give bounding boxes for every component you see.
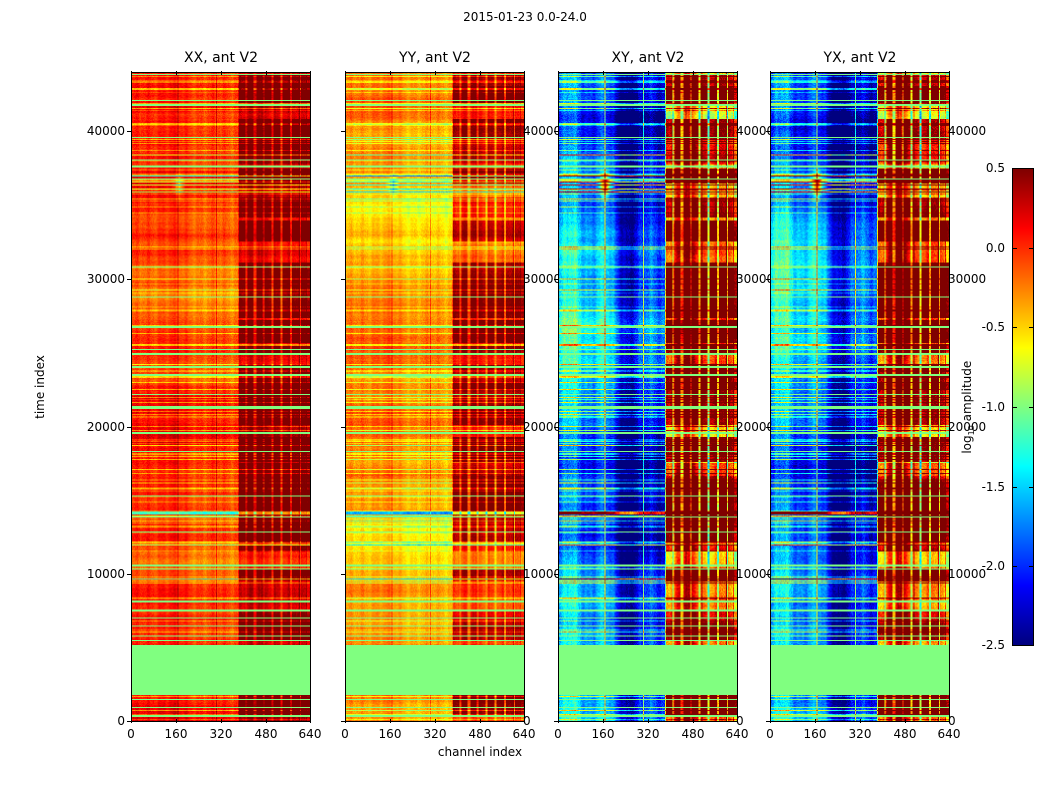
y-tick-mark xyxy=(127,721,132,722)
colorbar-tick-mark xyxy=(1029,168,1034,169)
y-tick-label-overlap: 10000 xyxy=(948,567,986,581)
x-tick-label: 480 xyxy=(894,727,917,741)
x-tick-mark-top xyxy=(176,71,177,75)
x-tick-mark-top xyxy=(693,71,694,75)
heatmap-image-xy xyxy=(559,73,737,721)
y-tick-label-overlap: 0 xyxy=(948,714,956,728)
x-tick-mark-top xyxy=(860,71,861,75)
y-tick-label-overlap: 0 xyxy=(523,714,531,728)
panel-axes-yx xyxy=(770,72,950,722)
panel-title-yx: YX, ant V2 xyxy=(770,50,950,66)
x-tick-mark-top xyxy=(737,71,738,75)
x-axis-label: channel index xyxy=(380,745,580,759)
x-tick-label: 640 xyxy=(513,727,536,741)
x-tick-mark xyxy=(176,719,177,723)
y-tick-mark xyxy=(554,131,559,132)
x-tick-mark-top xyxy=(390,71,391,75)
colorbar-tick-mark xyxy=(1029,248,1034,249)
x-tick-label: 320 xyxy=(637,727,660,741)
x-tick-label: 640 xyxy=(938,727,961,741)
x-tick-mark-top xyxy=(558,71,559,75)
x-tick-label: 160 xyxy=(165,727,188,741)
y-tick-mark xyxy=(341,131,346,132)
x-tick-label: 0 xyxy=(127,727,135,741)
colorbar-tick-label: 0.5 xyxy=(986,161,1005,175)
figure-suptitle: 2015-01-23 0.0-24.0 xyxy=(0,10,1050,24)
colorbar-tick-mark-left xyxy=(1012,566,1017,567)
y-axis-label: time index xyxy=(33,337,47,437)
x-tick-mark-top xyxy=(221,71,222,75)
x-tick-mark-top xyxy=(480,71,481,75)
colorbar-tick-mark-left xyxy=(1012,645,1017,646)
panel-axes-xy xyxy=(558,72,738,722)
x-tick-mark xyxy=(390,719,391,723)
y-tick-mark xyxy=(341,574,346,575)
colorbar-tick-mark-left xyxy=(1012,248,1017,249)
y-tick-mark xyxy=(127,574,132,575)
x-tick-label: 640 xyxy=(726,727,749,741)
y-tick-label-overlap: 30000 xyxy=(948,272,986,286)
x-tick-mark-top xyxy=(949,71,950,75)
panel-xy[interactable]: XY, ant V2016032048064001000020000300004… xyxy=(558,72,738,722)
x-tick-label: 320 xyxy=(210,727,233,741)
x-tick-mark-top xyxy=(131,71,132,75)
panel-title-yy: YY, ant V2 xyxy=(345,50,525,66)
x-tick-mark xyxy=(480,719,481,723)
x-tick-mark-top xyxy=(524,71,525,75)
colorbar-tick-label: -2.5 xyxy=(982,638,1005,652)
colorbar-label: log10 amplitude xyxy=(960,327,976,487)
x-tick-label: 480 xyxy=(682,727,705,741)
x-tick-mark xyxy=(603,719,604,723)
y-tick-label-overlap: 40000 xyxy=(948,124,986,138)
colorbar-tick-mark xyxy=(1029,327,1034,328)
panel-xx[interactable]: XX, ant V2016032048064001000020000300004… xyxy=(131,72,311,722)
x-tick-label: 320 xyxy=(424,727,447,741)
x-tick-label: 320 xyxy=(849,727,872,741)
y-tick-label: 10000 xyxy=(87,567,125,581)
panel-axes-xx xyxy=(131,72,311,722)
x-tick-mark xyxy=(815,719,816,723)
y-tick-label: 20000 xyxy=(87,420,125,434)
y-tick-mark xyxy=(554,721,559,722)
y-tick-mark xyxy=(766,131,771,132)
colorbar-label-prefix: log xyxy=(960,435,974,453)
heatmap-image-yy xyxy=(346,73,524,721)
colorbar-tick-mark xyxy=(1029,645,1034,646)
x-tick-mark xyxy=(693,719,694,723)
panel-yy[interactable]: YY, ant V2016032048064001000020000300004… xyxy=(345,72,525,722)
x-tick-mark xyxy=(905,719,906,723)
x-tick-mark xyxy=(648,719,649,723)
colorbar-tick-mark-left xyxy=(1012,487,1017,488)
colorbar-tick-label: -1.5 xyxy=(982,480,1005,494)
x-tick-mark xyxy=(221,719,222,723)
y-tick-label: 40000 xyxy=(87,124,125,138)
colorbar-tick-mark-left xyxy=(1012,168,1017,169)
colorbar-tick-mark xyxy=(1029,566,1034,567)
y-tick-mark xyxy=(127,279,132,280)
colorbar: 0.50.0-0.5-1.0-1.5-2.0-2.5 log10 amplitu… xyxy=(1012,168,1034,646)
x-tick-mark-top xyxy=(435,71,436,75)
colorbar-tick-label: 0.0 xyxy=(986,241,1005,255)
x-tick-mark-top xyxy=(815,71,816,75)
x-tick-mark-top xyxy=(345,71,346,75)
colorbar-tick-mark-left xyxy=(1012,327,1017,328)
figure-canvas: 2015-01-23 0.0-24.0 time index channel i… xyxy=(0,0,1050,800)
y-tick-mark xyxy=(554,279,559,280)
x-tick-mark xyxy=(435,719,436,723)
y-tick-mark xyxy=(766,574,771,575)
panel-yx[interactable]: YX, ant V2016032048064001000020000300004… xyxy=(770,72,950,722)
colorbar-tick-label: -1.0 xyxy=(982,400,1005,414)
x-tick-mark-top xyxy=(266,71,267,75)
y-tick-label: 30000 xyxy=(87,272,125,286)
x-tick-label: 0 xyxy=(766,727,774,741)
y-tick-mark xyxy=(766,721,771,722)
x-tick-mark-top xyxy=(310,71,311,75)
x-tick-mark-top xyxy=(603,71,604,75)
x-tick-mark-top xyxy=(648,71,649,75)
x-tick-mark-top xyxy=(770,71,771,75)
y-tick-mark xyxy=(341,427,346,428)
x-tick-label: 160 xyxy=(379,727,402,741)
panel-title-xx: XX, ant V2 xyxy=(131,50,311,66)
colorbar-tick-mark-left xyxy=(1012,407,1017,408)
colorbar-tick-label: -2.0 xyxy=(982,559,1005,573)
y-tick-mark xyxy=(127,427,132,428)
x-tick-label: 640 xyxy=(299,727,322,741)
x-tick-mark-top xyxy=(905,71,906,75)
x-tick-label: 160 xyxy=(592,727,615,741)
y-tick-label-overlap: 0 xyxy=(736,714,744,728)
heatmap-image-xx xyxy=(132,73,310,721)
x-tick-mark xyxy=(310,719,311,723)
x-tick-mark xyxy=(860,719,861,723)
y-tick-mark xyxy=(554,574,559,575)
heatmap-image-yx xyxy=(771,73,949,721)
x-tick-label: 480 xyxy=(255,727,278,741)
y-tick-mark xyxy=(766,427,771,428)
x-tick-label: 0 xyxy=(554,727,562,741)
y-tick-mark xyxy=(341,279,346,280)
colorbar-tick-mark xyxy=(1029,487,1034,488)
x-tick-label: 480 xyxy=(469,727,492,741)
panel-axes-yy xyxy=(345,72,525,722)
colorbar-label-suffix: amplitude xyxy=(960,361,974,425)
y-tick-mark xyxy=(766,279,771,280)
y-tick-mark xyxy=(341,721,346,722)
colorbar-label-subscript: 10 xyxy=(967,425,976,435)
y-tick-label: 0 xyxy=(117,714,125,728)
x-tick-label: 0 xyxy=(341,727,349,741)
x-tick-mark xyxy=(266,719,267,723)
colorbar-tick-mark xyxy=(1029,407,1034,408)
panel-title-xy: XY, ant V2 xyxy=(558,50,738,66)
y-tick-mark xyxy=(554,427,559,428)
y-tick-mark xyxy=(127,131,132,132)
colorbar-tick-label: -0.5 xyxy=(982,320,1005,334)
x-tick-label: 160 xyxy=(804,727,827,741)
